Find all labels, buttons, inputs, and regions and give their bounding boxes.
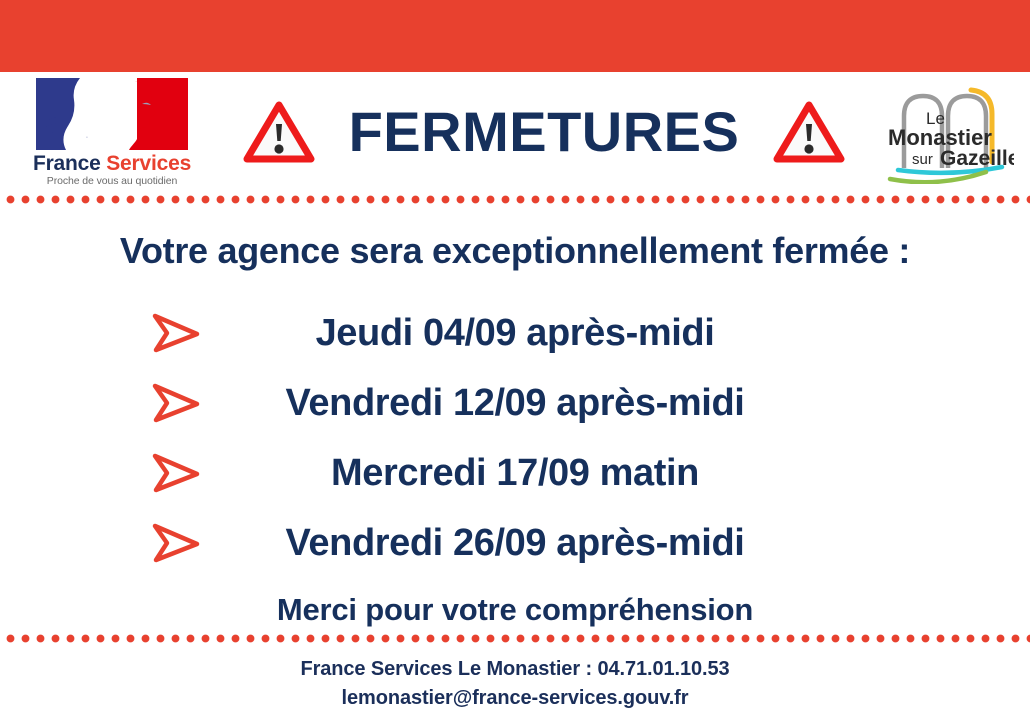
monastier-sur-gazeille-logo: Le Monastier sur Gazeille (882, 80, 1014, 184)
arrow-right-icon (150, 312, 202, 354)
warning-triangle-icon (773, 100, 845, 164)
list-item: Vendredi 12/09 après-midi (0, 368, 1030, 438)
dotted-divider-bottom (0, 634, 1030, 643)
list-item: Vendredi 26/09 après-midi (0, 508, 1030, 578)
warning-triangle-icon (243, 100, 315, 164)
bullet-cell (0, 312, 212, 354)
top-red-banner (0, 0, 1030, 72)
arrow-right-icon (150, 452, 202, 494)
wordmark-france: France (33, 152, 101, 175)
france-services-logo: France Services Proche de vous au quotid… (28, 78, 196, 187)
monastier-line-gazeille: Gazeille (940, 147, 1014, 170)
closure-label: Vendredi 26/09 après-midi (212, 522, 1030, 565)
bullet-cell (0, 382, 212, 424)
footer-contact: France Services Le Monastier : 04.71.01.… (0, 655, 1030, 684)
thanks-message: Merci pour votre compréhension (0, 592, 1030, 628)
arrow-right-icon (150, 522, 202, 564)
title-group: FERMETURES (206, 100, 882, 164)
poster-header: France Services Proche de vous au quotid… (0, 72, 1030, 192)
wordmark-services: Services (106, 152, 191, 175)
closure-notice-poster: France Services Proche de vous au quotid… (0, 0, 1030, 728)
closure-label: Jeudi 04/09 après-midi (212, 312, 1030, 355)
poster-footer: France Services Le Monastier : 04.71.01.… (0, 655, 1030, 713)
bullet-cell (0, 522, 212, 564)
closure-label: Mercredi 17/09 matin (212, 452, 1030, 495)
closure-label: Vendredi 12/09 après-midi (212, 382, 1030, 425)
lead-sentence: Votre agence sera exceptionnellement fer… (0, 230, 1030, 272)
marianne-flag-icon (36, 78, 188, 150)
monastier-line-sur: sur (912, 151, 933, 168)
page-title: FERMETURES (349, 104, 740, 160)
list-item: Mercredi 17/09 matin (0, 438, 1030, 508)
list-item: Jeudi 04/09 après-midi (0, 298, 1030, 368)
dotted-divider-top (0, 195, 1030, 204)
france-services-wordmark: France Services (33, 153, 191, 174)
closure-list: Jeudi 04/09 après-midi Vendredi 12/09 ap… (0, 298, 1030, 578)
france-services-tagline: Proche de vous au quotidien (47, 175, 177, 187)
bullet-cell (0, 452, 212, 494)
arrow-right-icon (150, 382, 202, 424)
footer-email: lemonastier@france-services.gouv.fr (0, 684, 1030, 713)
